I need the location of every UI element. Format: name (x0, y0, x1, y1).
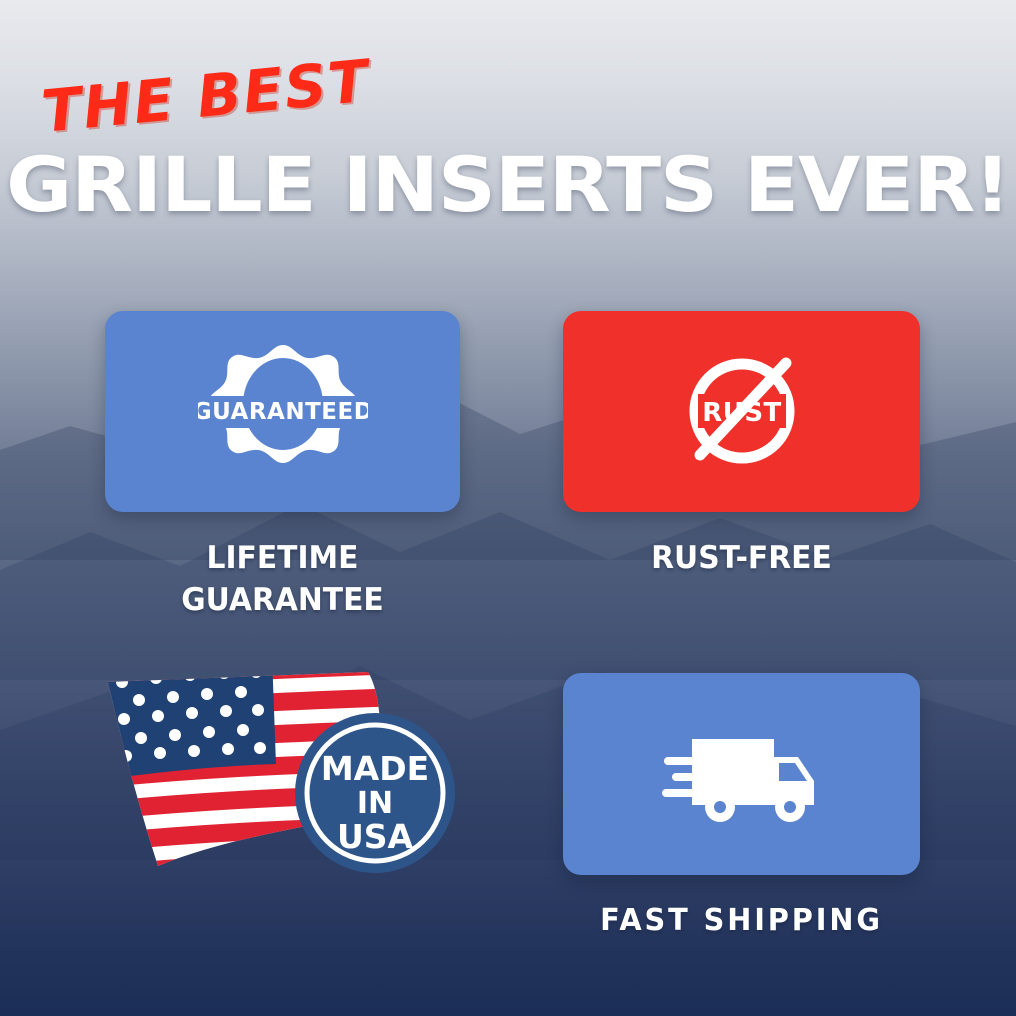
guarantee-seal-icon: GUARANTEED (198, 337, 368, 487)
shipping-caption-line1: FAST SHIPPING (570, 901, 913, 942)
guarantee-caption-line2: GUARANTEE (112, 580, 453, 622)
rust-tile: RUST (563, 311, 920, 512)
promo-graphic: THE BEST GRILLE INSERTS EVER! GUARANTEED (0, 0, 1016, 1016)
feature-made-in-usa: MADE IN USA (100, 660, 470, 885)
feature-lifetime-guarantee: GUARANTEED LIFETIME GUARANTEE (105, 311, 460, 622)
rust-icon-label: RUST (702, 398, 782, 428)
usa-artwork: MADE IN USA (100, 660, 470, 875)
badge-line-in: IN (357, 786, 393, 821)
guarantee-tile: GUARANTEED (105, 311, 460, 512)
guarantee-caption: LIFETIME GUARANTEE (112, 538, 453, 622)
usa-flag-icon: MADE IN USA (100, 660, 470, 875)
badge-line-usa: USA (337, 817, 414, 856)
shipping-caption: FAST SHIPPING (570, 901, 913, 942)
delivery-truck-icon (662, 719, 822, 829)
page-title: GRILLE INSERTS EVER! (0, 140, 1016, 229)
rust-caption-line1: RUST-FREE (570, 538, 913, 580)
feature-rust-free: RUST RUST-FREE (563, 311, 920, 580)
eyebrow-text: THE BEST (39, 47, 373, 146)
guarantee-caption-line1: LIFETIME (112, 538, 453, 580)
shipping-tile (563, 673, 920, 875)
feature-fast-shipping: FAST SHIPPING (563, 673, 920, 942)
rust-caption: RUST-FREE (570, 538, 913, 580)
guarantee-icon-label: GUARANTEED (198, 399, 368, 425)
badge-line-made: MADE (321, 749, 429, 788)
made-in-usa-badge: MADE IN USA (295, 713, 455, 873)
headline-block: THE BEST GRILLE INSERTS EVER! (0, 0, 1016, 250)
no-rust-icon: RUST (662, 337, 822, 487)
